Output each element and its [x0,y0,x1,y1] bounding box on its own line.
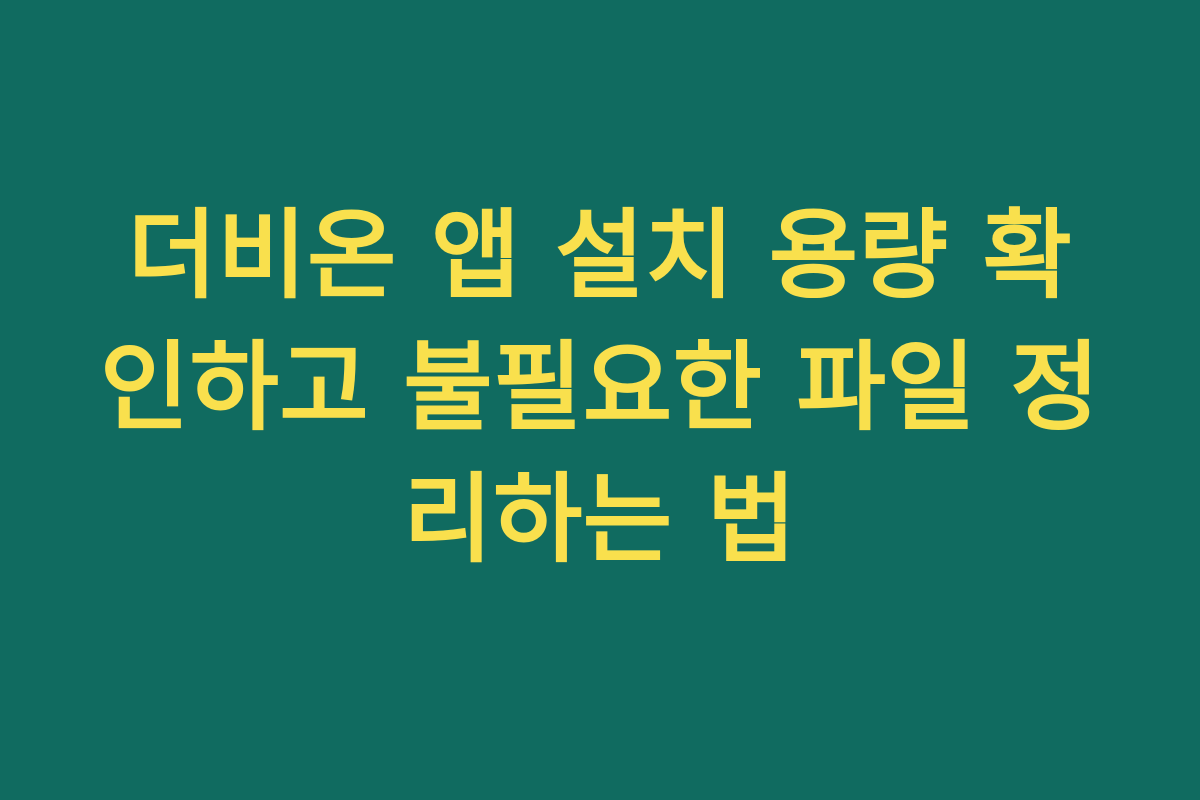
thumbnail-canvas: 더비온 앱 설치 용량 확 인하고 불필요한 파일 정 리하는 법 [0,0,1200,800]
headline-line-1: 더비온 앱 설치 용량 확 [60,190,1140,322]
page-title: 더비온 앱 설치 용량 확 인하고 불필요한 파일 정 리하는 법 [60,190,1140,586]
headline-line-2: 인하고 불필요한 파일 정 [60,322,1140,454]
headline-line-3: 리하는 법 [60,454,1140,586]
